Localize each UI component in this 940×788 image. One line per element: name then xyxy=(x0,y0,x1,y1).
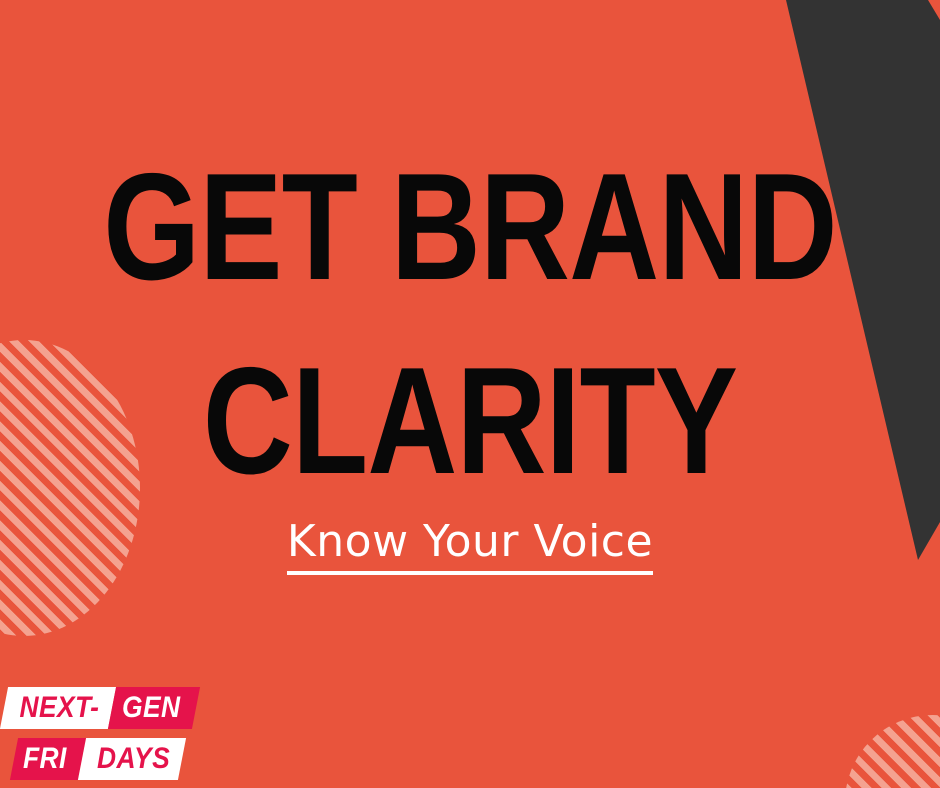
logo-segment-next: NEXT- xyxy=(0,687,116,729)
headline-line-1: GET BRAND xyxy=(85,158,856,298)
logo-segment-fri: FRI xyxy=(10,738,86,780)
logo-text-next: NEXT- xyxy=(19,693,99,723)
subtitle-text: Know Your Voice xyxy=(287,516,653,575)
logo-text-fri: FRI xyxy=(23,744,67,774)
logo-row-next-gen: NEXT- GEN xyxy=(0,687,200,729)
brand-logo: NEXT- GEN FRI DAYS xyxy=(0,684,175,788)
logo-text-gen: GEN xyxy=(122,693,181,723)
subtitle: Know Your Voice xyxy=(0,516,940,575)
logo-row-fridays: FRI DAYS xyxy=(10,738,186,780)
logo-text-days: DAYS xyxy=(97,744,170,774)
headline-line-2: CLARITY xyxy=(85,352,856,492)
headline-block: GET BRAND CLARITY Know Your Voice xyxy=(0,0,940,788)
promo-poster: GET BRAND CLARITY Know Your Voice NEXT- … xyxy=(0,0,940,788)
logo-segment-gen: GEN xyxy=(108,687,201,729)
logo-segment-days: DAYS xyxy=(78,738,186,780)
